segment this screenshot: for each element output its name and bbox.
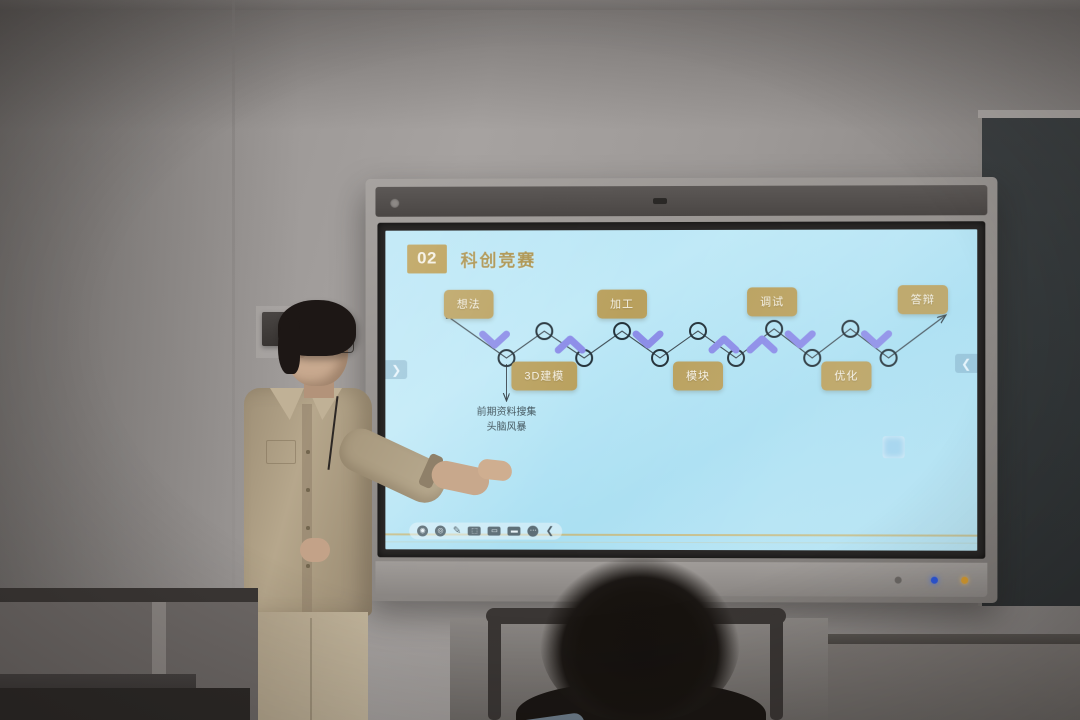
classroom-scene: 赛 、 水 02 科创竞赛: [0, 0, 1080, 720]
flow-step-chip-2[interactable]: 3D建模: [511, 362, 577, 391]
pointing-hand: [477, 458, 513, 481]
whiteboard-top-bar: [375, 185, 987, 217]
chair-post-left: [488, 614, 501, 720]
camera-icon: [653, 198, 667, 204]
pen-icon[interactable]: ✎: [453, 526, 461, 537]
note-icon[interactable]: ▭: [488, 527, 501, 536]
chair-post-right: [770, 614, 783, 720]
slide-icon[interactable]: ▬: [508, 527, 521, 536]
foreground-desk-top: [0, 688, 250, 720]
shirt-placket: [302, 404, 312, 616]
seated-student: [540, 532, 740, 720]
slide-next-tab[interactable]: ❮: [955, 354, 977, 373]
flow-step-chip-4[interactable]: 模块: [673, 361, 723, 390]
select-icon[interactable]: ⬚: [468, 527, 481, 536]
power-led-blue: [931, 577, 938, 584]
flow-step-chip-1[interactable]: 想法: [444, 290, 494, 319]
shirt-button: [306, 488, 310, 492]
flow-annotation: 前期资料搜集 头脑风暴: [477, 406, 537, 435]
logo-square-watermark: [883, 436, 905, 458]
trouser-seam: [310, 618, 312, 720]
annotation-line-1: 前期资料搜集: [477, 406, 537, 420]
process-flow-diagram: 想法 3D建模 加工 模块 调试 优化 答辩 前期资料搜集 头脑风暴: [385, 229, 977, 550]
flow-step-chip-6[interactable]: 优化: [821, 361, 871, 390]
student-hair: [540, 532, 740, 720]
right-desk: [820, 634, 1080, 720]
indicator-led-dim: [895, 577, 902, 584]
shirt-button: [306, 526, 310, 530]
shirt-pocket: [266, 440, 296, 464]
chevron-up-icon: [558, 339, 774, 350]
presenter-hair-side: [278, 318, 300, 374]
slide-screen[interactable]: 02 科创竞赛: [385, 229, 977, 550]
status-led-amber: [961, 577, 968, 584]
flow-step-chip-3[interactable]: 加工: [597, 290, 647, 319]
annotation-line-2: 头脑风暴: [477, 420, 537, 434]
more-icon[interactable]: ⋯: [528, 526, 539, 537]
frame-screw-icon: [390, 199, 399, 208]
shirt-button: [306, 564, 310, 568]
presenter-left-hand: [300, 538, 330, 562]
flow-step-chip-5[interactable]: 调试: [747, 287, 797, 316]
shirt-button: [306, 450, 310, 454]
flow-step-chip-7[interactable]: 答辩: [898, 285, 948, 314]
presenter-trousers: [256, 612, 368, 720]
